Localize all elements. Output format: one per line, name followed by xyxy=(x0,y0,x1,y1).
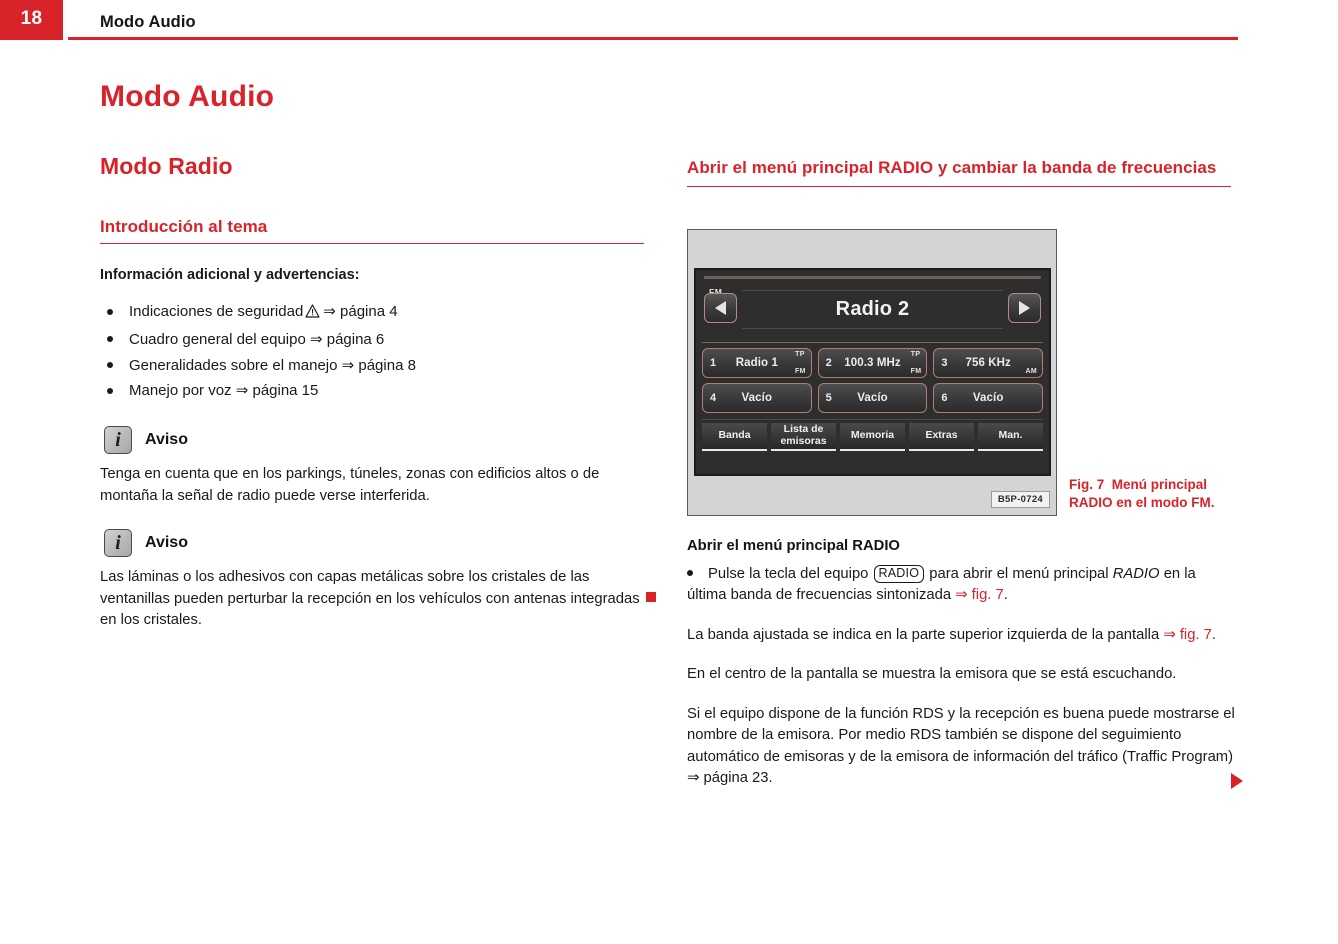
note-header: i Aviso xyxy=(100,426,645,456)
list-item-label: Manejo por voz xyxy=(129,382,232,399)
bullet-part-1: Pulse la tecla del equipo xyxy=(708,566,868,582)
menu-button-banda[interactable]: Banda xyxy=(702,423,767,451)
lead-text: Información adicional y advertencias: xyxy=(100,266,645,286)
preset-label: Vacío xyxy=(819,392,927,404)
section-end-marker xyxy=(646,592,656,602)
warning-triangle-icon xyxy=(305,301,320,327)
right-column: Abrir el menú principal RADIO y cambiar … xyxy=(687,80,1232,187)
note-body: Tenga en cuenta que en los parkings, tún… xyxy=(100,464,645,507)
figure-reference-link[interactable]: ⇒ fig. 7 xyxy=(1163,627,1212,643)
figure-caption-label: Fig. 7 xyxy=(1069,477,1104,492)
preset-button-4[interactable]: 4 Vacío xyxy=(702,383,812,413)
preset-label: Vacío xyxy=(703,392,811,404)
preset-label: Vacío xyxy=(934,392,1042,404)
list-item-label: Indicaciones de seguridad xyxy=(129,303,303,320)
radio-screen: FM Radio 2 1 Radio 1 TP FM xyxy=(694,268,1051,476)
bullet-dot-icon xyxy=(107,362,113,368)
preset-button-6[interactable]: 6 Vacío xyxy=(933,383,1043,413)
bullet-part-2: para abrir el menú principal xyxy=(929,566,1108,582)
radio-device-frame: FM Radio 2 1 Radio 1 TP FM xyxy=(687,229,1057,516)
menu-button-extras[interactable]: Extras xyxy=(909,423,974,451)
list-item: Manejo por voz ⇒ página 15 xyxy=(100,378,645,404)
preset-band-badge: AM xyxy=(1026,368,1038,375)
paragraph-text: La banda ajustada se indica en la parte … xyxy=(687,627,1159,643)
station-row: Radio 2 xyxy=(702,290,1043,333)
right-section-heading: Abrir el menú principal RADIO y cambiar … xyxy=(687,156,1232,181)
info-icon: i xyxy=(104,426,132,454)
list-item: Pulse la tecla del equipo RADIO para abr… xyxy=(687,564,1235,607)
section-heading: Modo Radio xyxy=(100,154,645,179)
figure-watermark: B5P-0724 xyxy=(991,491,1050,508)
preset-row: 4 Vacío 5 Vacío 6 Vacío xyxy=(702,383,1043,413)
next-arrow-glyph xyxy=(1019,301,1030,315)
page-reference: ⇒ página 4 xyxy=(323,303,397,320)
menu-button-lista-de-emisoras[interactable]: Lista de emisoras xyxy=(771,423,836,451)
info-icon-glyph: i xyxy=(105,530,131,556)
right-column-body: Abrir el menú principal RADIO Pulse la t… xyxy=(687,538,1235,790)
preset-band-badge: FM xyxy=(911,368,922,375)
preset-band-badge: FM xyxy=(795,368,806,375)
list-item: Generalidades sobre el manejo ⇒ página 8 xyxy=(100,353,645,379)
radio-key-icon: RADIO xyxy=(874,565,925,584)
left-column: Modo Audio Modo Radio Introducción al te… xyxy=(100,80,645,631)
prev-arrow-icon[interactable] xyxy=(704,293,737,323)
preset-button-3[interactable]: 3 756 KHz AM xyxy=(933,348,1043,378)
device-footer: B5P-0724 xyxy=(694,480,1050,510)
header-rule-left xyxy=(0,37,63,40)
list-item: Cuadro general del equipo ⇒ página 6 xyxy=(100,327,645,353)
continuation-arrow-icon xyxy=(1231,773,1243,789)
page-header: 18 Modo Audio xyxy=(0,0,1338,41)
header-title: Modo Audio xyxy=(100,13,196,32)
bullet-dot-icon xyxy=(107,309,113,315)
paragraph: La banda ajustada se indica en la parte … xyxy=(687,625,1235,646)
preset-tp-badge: TP xyxy=(795,351,805,358)
station-name: Radio 2 xyxy=(742,290,1003,329)
preset-button-1[interactable]: 1 Radio 1 TP FM xyxy=(702,348,812,378)
bullet-end: . xyxy=(1004,587,1008,603)
page-number: 18 xyxy=(0,0,63,37)
page-reference: ⇒ página 8 xyxy=(342,357,416,374)
paragraph-end: . xyxy=(1212,627,1216,643)
menu-button-memoria[interactable]: Memoria xyxy=(840,423,905,451)
preset-area: 1 Radio 1 TP FM 2 100.3 MHz TP FM 3 756 … xyxy=(702,342,1043,413)
info-icon-glyph: i xyxy=(105,427,131,453)
subsection-heading: Introducción al tema xyxy=(100,217,645,237)
list-item-label: Cuadro general del equipo xyxy=(129,331,306,348)
bullet-italic-term: RADIO xyxy=(1113,566,1160,582)
info-bullet-list: Indicaciones de seguridad⇒ página 4 Cuad… xyxy=(100,299,645,404)
note-body: Las láminas o los adhesivos con capas me… xyxy=(100,567,645,631)
menu-button-man[interactable]: Man. xyxy=(978,423,1043,451)
figure-radio-main-menu: FM Radio 2 1 Radio 1 TP FM xyxy=(687,229,1057,516)
header-rule xyxy=(68,37,1238,40)
page-reference: ⇒ página 6 xyxy=(310,331,384,348)
screen-top-divider xyxy=(704,276,1041,279)
note-header: i Aviso xyxy=(100,529,645,559)
right-sub-heading: Abrir el menú principal RADIO xyxy=(687,538,1235,554)
preset-row: 1 Radio 1 TP FM 2 100.3 MHz TP FM 3 756 … xyxy=(702,348,1043,378)
info-icon: i xyxy=(104,529,132,557)
figure-reference-link[interactable]: ⇒ fig. 7 xyxy=(955,587,1004,603)
note-title: Aviso xyxy=(145,431,188,449)
bullet-dot-icon xyxy=(107,336,113,342)
note-title: Aviso xyxy=(145,534,188,552)
paragraph: En el centro de la pantalla se muestra l… xyxy=(687,664,1235,685)
list-item: Indicaciones de seguridad⇒ página 4 xyxy=(100,299,645,327)
paragraph: Si el equipo dispone de la función RDS y… xyxy=(687,704,1235,790)
next-arrow-icon[interactable] xyxy=(1008,293,1041,323)
screen-menu-bar: Banda Lista de emisoras Memoria Extras M… xyxy=(702,419,1043,451)
right-section-rule xyxy=(687,186,1231,188)
list-item-label: Generalidades sobre el manejo xyxy=(129,357,337,374)
figure-caption: Fig. 7 Menú principal RADIO en el modo F… xyxy=(1069,476,1237,512)
page-title: Modo Audio xyxy=(100,80,645,113)
bullet-dot-icon xyxy=(687,570,693,576)
subsection-rule xyxy=(100,243,644,245)
preset-button-5[interactable]: 5 Vacío xyxy=(818,383,928,413)
preset-button-2[interactable]: 2 100.3 MHz TP FM xyxy=(818,348,928,378)
prev-arrow-glyph xyxy=(715,301,726,315)
page-reference: ⇒ página 15 xyxy=(236,382,319,399)
preset-tp-badge: TP xyxy=(911,351,921,358)
bullet-dot-icon xyxy=(107,388,113,394)
